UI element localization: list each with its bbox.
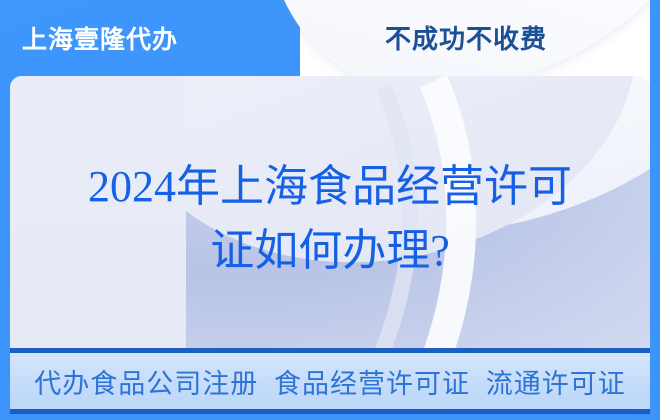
keyword-list: 代办食品公司注册 食品经营许可证 流通许可证 xyxy=(30,362,630,401)
keyword-item-3: 流通许可证 xyxy=(486,369,626,399)
headline-line-1: 2024年上海食品经营许可 xyxy=(88,155,572,219)
keyword-bar: 代办食品公司注册 食品经营许可证 流通许可证 xyxy=(10,348,650,414)
right-blue-edge xyxy=(650,0,660,420)
brand-name: 上海壹隆代办 xyxy=(22,20,178,56)
poster-header: 上海壹隆代办 不成功不收费 xyxy=(0,0,660,78)
main-card: 2024年上海食品经营许可 证如何办理? xyxy=(10,76,650,348)
promo-poster: 上海壹隆代办 不成功不收费 2024年上海食品经营许可 证如何办理? 代办食品公… xyxy=(0,0,660,420)
left-blue-edge xyxy=(0,70,10,420)
slogan-text: 不成功不收费 xyxy=(385,19,547,56)
keyword-item-1: 代办食品公司注册 xyxy=(34,369,258,399)
headline-line-2: 证如何办理? xyxy=(210,219,450,283)
keyword-item-2: 食品经营许可证 xyxy=(274,369,470,399)
headline-block: 2024年上海食品经营许可 证如何办理? xyxy=(10,76,650,348)
bottom-blue-edge xyxy=(0,415,660,420)
